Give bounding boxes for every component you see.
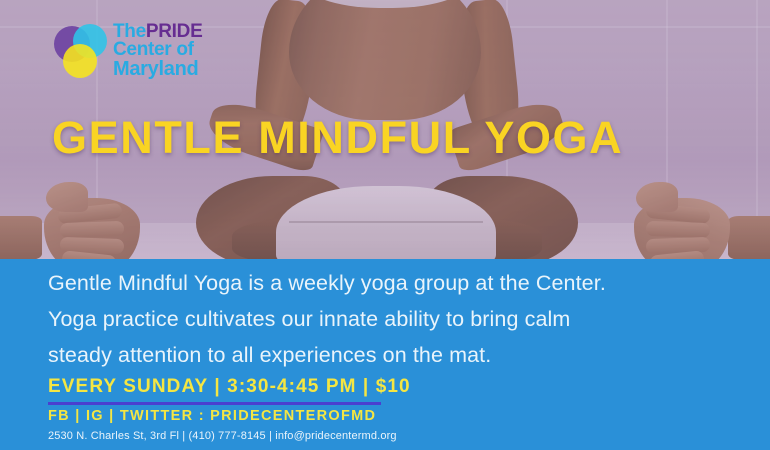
schedule-text: EVERY SUNDAY | 3:30-4:45 PM | $10 — [48, 376, 411, 398]
description-line: Yoga practice cultivates our innate abil… — [48, 301, 734, 337]
logo-wordmark: ThePRIDE Center of Maryland — [113, 23, 202, 79]
logo-line-3: Maryland — [113, 60, 202, 79]
yoga-flyer: ThePRIDE Center of Maryland GENTLE MINDF… — [0, 0, 770, 450]
logo-circles-icon — [54, 22, 108, 80]
description-text: Gentle Mindful Yoga is a weekly yoga gro… — [48, 265, 734, 373]
logo-circle-yellow-icon — [63, 44, 97, 78]
description-line: Gentle Mindful Yoga is a weekly yoga gro… — [48, 265, 734, 301]
divider — [48, 402, 381, 405]
description-line: steady attention to all experiences on t… — [48, 337, 734, 373]
logo-line-2: Center of — [113, 41, 202, 59]
contact-info-text: 2530 N. Charles St, 3rd Fl | (410) 777-8… — [48, 430, 397, 442]
social-handles-text: FB | IG | TWITTER : PRIDECENTEROFMD — [48, 408, 376, 424]
info-panel: Gentle Mindful Yoga is a weekly yoga gro… — [0, 259, 770, 450]
page-title: GENTLE MINDFUL YOGA — [52, 112, 623, 164]
pride-center-logo: ThePRIDE Center of Maryland — [54, 18, 254, 84]
